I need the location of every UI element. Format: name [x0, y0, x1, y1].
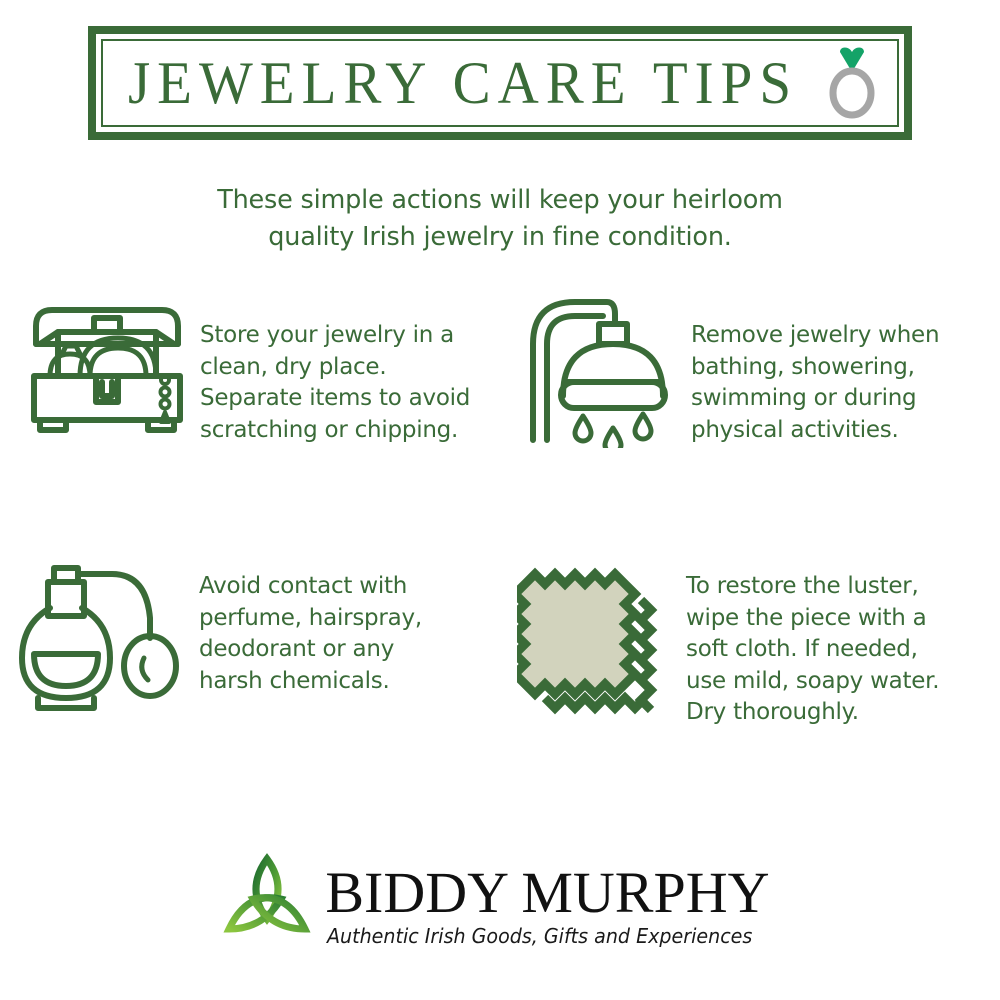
tip-card-remove: Remove jewelry when bathing, showering, … — [523, 288, 939, 448]
tip-line: Separate items to avoid — [200, 383, 470, 415]
tip-card-store: Store your jewelry in a clean, dry place… — [22, 288, 470, 446]
header-inner-frame: JEWELRY CARE TIPS — [101, 39, 899, 127]
header-banner: JEWELRY CARE TIPS — [88, 26, 912, 140]
logo-brand-name: BIDDY MURPHY — [325, 864, 769, 922]
tip-text-store: Store your jewelry in a clean, dry place… — [200, 320, 470, 446]
tip-card-restore: To restore the luster, wipe the piece wi… — [517, 564, 939, 729]
tip-text-remove: Remove jewelry when bathing, showering, … — [691, 320, 939, 446]
tip-line: soft cloth. If needed, — [686, 634, 939, 666]
tip-text-restore: To restore the luster, wipe the piece wi… — [686, 571, 939, 729]
tip-line: perfume, hairspray, — [199, 603, 422, 635]
page-title: JEWELRY CARE TIPS — [120, 53, 798, 113]
tip-line: bathing, showering, — [691, 352, 939, 384]
tip-line: wipe the piece with a — [686, 603, 939, 635]
tip-line: Dry thoroughly. — [686, 697, 939, 729]
tip-line: swimming or during — [691, 383, 939, 415]
tip-text-avoid: Avoid contact with perfume, hairspray, d… — [199, 571, 422, 697]
tip-line: To restore the luster, — [686, 571, 939, 603]
perfume-bottle-icon — [16, 560, 188, 715]
tip-line: Remove jewelry when — [691, 320, 939, 352]
polishing-cloth-icon — [517, 564, 677, 722]
tip-line: Store your jewelry in a — [200, 320, 470, 352]
tip-line: clean, dry place. — [200, 352, 470, 384]
tip-card-avoid: Avoid contact with perfume, hairspray, d… — [16, 560, 422, 715]
tips-grid: Store your jewelry in a clean, dry place… — [0, 288, 1000, 768]
subtitle-line-2: quality Irish jewelry in fine condition. — [0, 219, 1000, 256]
jewelry-box-icon — [22, 288, 192, 440]
tip-line: harsh chemicals. — [199, 666, 422, 698]
tip-line: Avoid contact with — [199, 571, 422, 603]
shower-head-icon — [523, 288, 675, 448]
tip-line: scratching or chipping. — [200, 415, 470, 447]
subtitle-line-1: These simple actions will keep your heir… — [0, 182, 1000, 219]
tip-line: deodorant or any — [199, 634, 422, 666]
tip-line: physical activities. — [691, 415, 939, 447]
logo-wordmark: BIDDY MURPHY Authentic Irish Goods, Gift… — [325, 864, 784, 948]
subtitle: These simple actions will keep your heir… — [0, 182, 1000, 256]
cloth-front-shape — [517, 574, 635, 694]
brand-logo: BIDDY MURPHY Authentic Irish Goods, Gift… — [0, 843, 1000, 963]
tip-line: use mild, soapy water. — [686, 666, 939, 698]
celtic-triquetra-knot-icon — [215, 851, 319, 955]
ring-icon — [824, 46, 880, 120]
logo-tagline: Authentic Irish Goods, Gifts and Experie… — [327, 924, 752, 948]
